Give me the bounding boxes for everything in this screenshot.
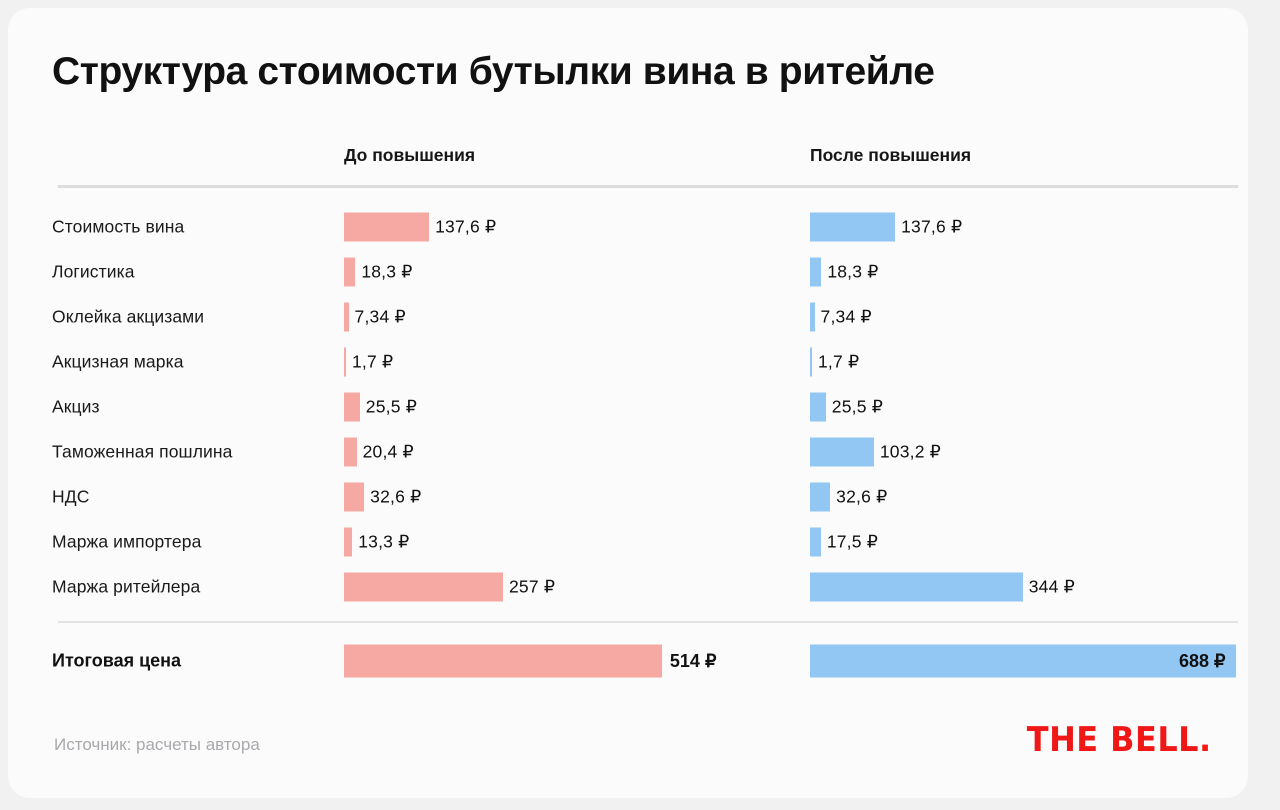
chart-row: Логистика18,3 ₽18,3 ₽ <box>8 249 1248 294</box>
chart-card: Структура стоимости бутылки вина в ритей… <box>8 8 1248 798</box>
row-label: Таможенная пошлина <box>52 441 232 462</box>
row-label: Маржа ритейлера <box>52 576 200 597</box>
bar-group-before: 25,5 ₽ <box>344 392 417 421</box>
bar-value-after: 17,5 ₽ <box>827 531 878 552</box>
total-value-after: 688 ₽ <box>1179 651 1226 672</box>
chart-row: Маржа импортера13,3 ₽17,5 ₽ <box>8 519 1248 564</box>
bar-value-before: 32,6 ₽ <box>370 486 421 507</box>
the-bell-logo: THE BELL. <box>1027 720 1212 760</box>
bar-group-after: 1,7 ₽ <box>810 347 859 376</box>
bar-value-before: 1,7 ₽ <box>352 351 393 372</box>
bar-group-after: 344 ₽ <box>810 572 1075 601</box>
bar-value-before: 25,5 ₽ <box>366 396 417 417</box>
total-bar-after: 688 ₽ <box>810 645 1236 678</box>
bar-value-before: 7,34 ₽ <box>355 306 406 327</box>
bar-before <box>344 527 352 556</box>
bar-group-before: 1,7 ₽ <box>344 347 393 376</box>
bar-value-after: 7,34 ₽ <box>821 306 872 327</box>
bar-before <box>344 347 346 376</box>
bar-after <box>810 572 1023 601</box>
row-label: НДС <box>52 486 89 507</box>
bar-value-before: 18,3 ₽ <box>361 261 412 282</box>
bar-value-after: 18,3 ₽ <box>827 261 878 282</box>
bar-value-after: 32,6 ₽ <box>836 486 887 507</box>
row-label: Логистика <box>52 261 135 282</box>
bar-group-before: 20,4 ₽ <box>344 437 414 466</box>
bar-value-before: 20,4 ₽ <box>363 441 414 462</box>
row-label: Стоимость вина <box>52 216 184 237</box>
bar-value-after: 103,2 ₽ <box>880 441 941 462</box>
bar-group-before: 13,3 ₽ <box>344 527 409 556</box>
bar-group-after: 7,34 ₽ <box>810 302 872 331</box>
row-label: Оклейка акцизами <box>52 306 204 327</box>
column-header-before: До повышения <box>344 145 475 166</box>
bar-value-after: 137,6 ₽ <box>901 216 962 237</box>
bar-after <box>810 302 815 331</box>
chart-row: Таможенная пошлина20,4 ₽103,2 ₽ <box>8 429 1248 474</box>
bar-group-after: 18,3 ₽ <box>810 257 879 286</box>
chart-row: Стоимость вина137,6 ₽137,6 ₽ <box>8 204 1248 249</box>
bar-before <box>344 482 364 511</box>
bar-group-after: 103,2 ₽ <box>810 437 941 466</box>
bar-before <box>344 437 357 466</box>
bar-value-after: 344 ₽ <box>1029 576 1075 597</box>
bar-before <box>344 302 349 331</box>
chart-row: Маржа ритейлера257 ₽344 ₽ <box>8 564 1248 609</box>
bar-value-before: 13,3 ₽ <box>358 531 409 552</box>
bar-group-before: 18,3 ₽ <box>344 257 413 286</box>
bar-group-after: 137,6 ₽ <box>810 212 962 241</box>
bar-group-after: 32,6 ₽ <box>810 482 887 511</box>
chart-row: Акциз25,5 ₽25,5 ₽ <box>8 384 1248 429</box>
chart-row: Акцизная марка1,7 ₽1,7 ₽ <box>8 339 1248 384</box>
bar-after <box>810 437 874 466</box>
bar-before <box>344 572 503 601</box>
bar-after <box>810 482 830 511</box>
bar-group-before: 32,6 ₽ <box>344 482 421 511</box>
bar-before <box>344 212 429 241</box>
bar-group-after: 25,5 ₽ <box>810 392 883 421</box>
bar-before <box>344 257 355 286</box>
bar-group-after: 17,5 ₽ <box>810 527 878 556</box>
total-divider <box>58 621 1238 623</box>
bar-group-before: 137,6 ₽ <box>344 212 496 241</box>
bar-value-after: 1,7 ₽ <box>818 351 859 372</box>
chart-row: НДС32,6 ₽32,6 ₽ <box>8 474 1248 519</box>
bar-after <box>810 257 821 286</box>
bar-value-before: 257 ₽ <box>509 576 555 597</box>
total-value-before: 514 ₽ <box>670 651 717 672</box>
column-header-after: После повышения <box>810 145 971 166</box>
total-row: Итоговая цена 514 ₽ 688 ₽ <box>8 640 1248 682</box>
page-title: Структура стоимости бутылки вина в ритей… <box>52 50 935 94</box>
chart-rows: Стоимость вина137,6 ₽137,6 ₽Логистика18,… <box>8 204 1248 609</box>
header-divider <box>58 185 1238 188</box>
bar-after <box>810 347 812 376</box>
bar-value-after: 25,5 ₽ <box>832 396 883 417</box>
source-note: Источник: расчеты автора <box>54 735 260 755</box>
row-label: Акцизная марка <box>52 351 184 372</box>
total-bar-before: 514 ₽ <box>344 645 662 678</box>
bar-after <box>810 392 826 421</box>
bar-group-before: 7,34 ₽ <box>344 302 406 331</box>
row-label: Акциз <box>52 396 100 417</box>
bar-group-before: 257 ₽ <box>344 572 555 601</box>
total-label: Итоговая цена <box>52 651 181 672</box>
chart-row: Оклейка акцизами7,34 ₽7,34 ₽ <box>8 294 1248 339</box>
row-label: Маржа импортера <box>52 531 201 552</box>
bar-value-before: 137,6 ₽ <box>435 216 496 237</box>
bar-after <box>810 212 895 241</box>
bar-after <box>810 527 821 556</box>
bar-before <box>344 392 360 421</box>
